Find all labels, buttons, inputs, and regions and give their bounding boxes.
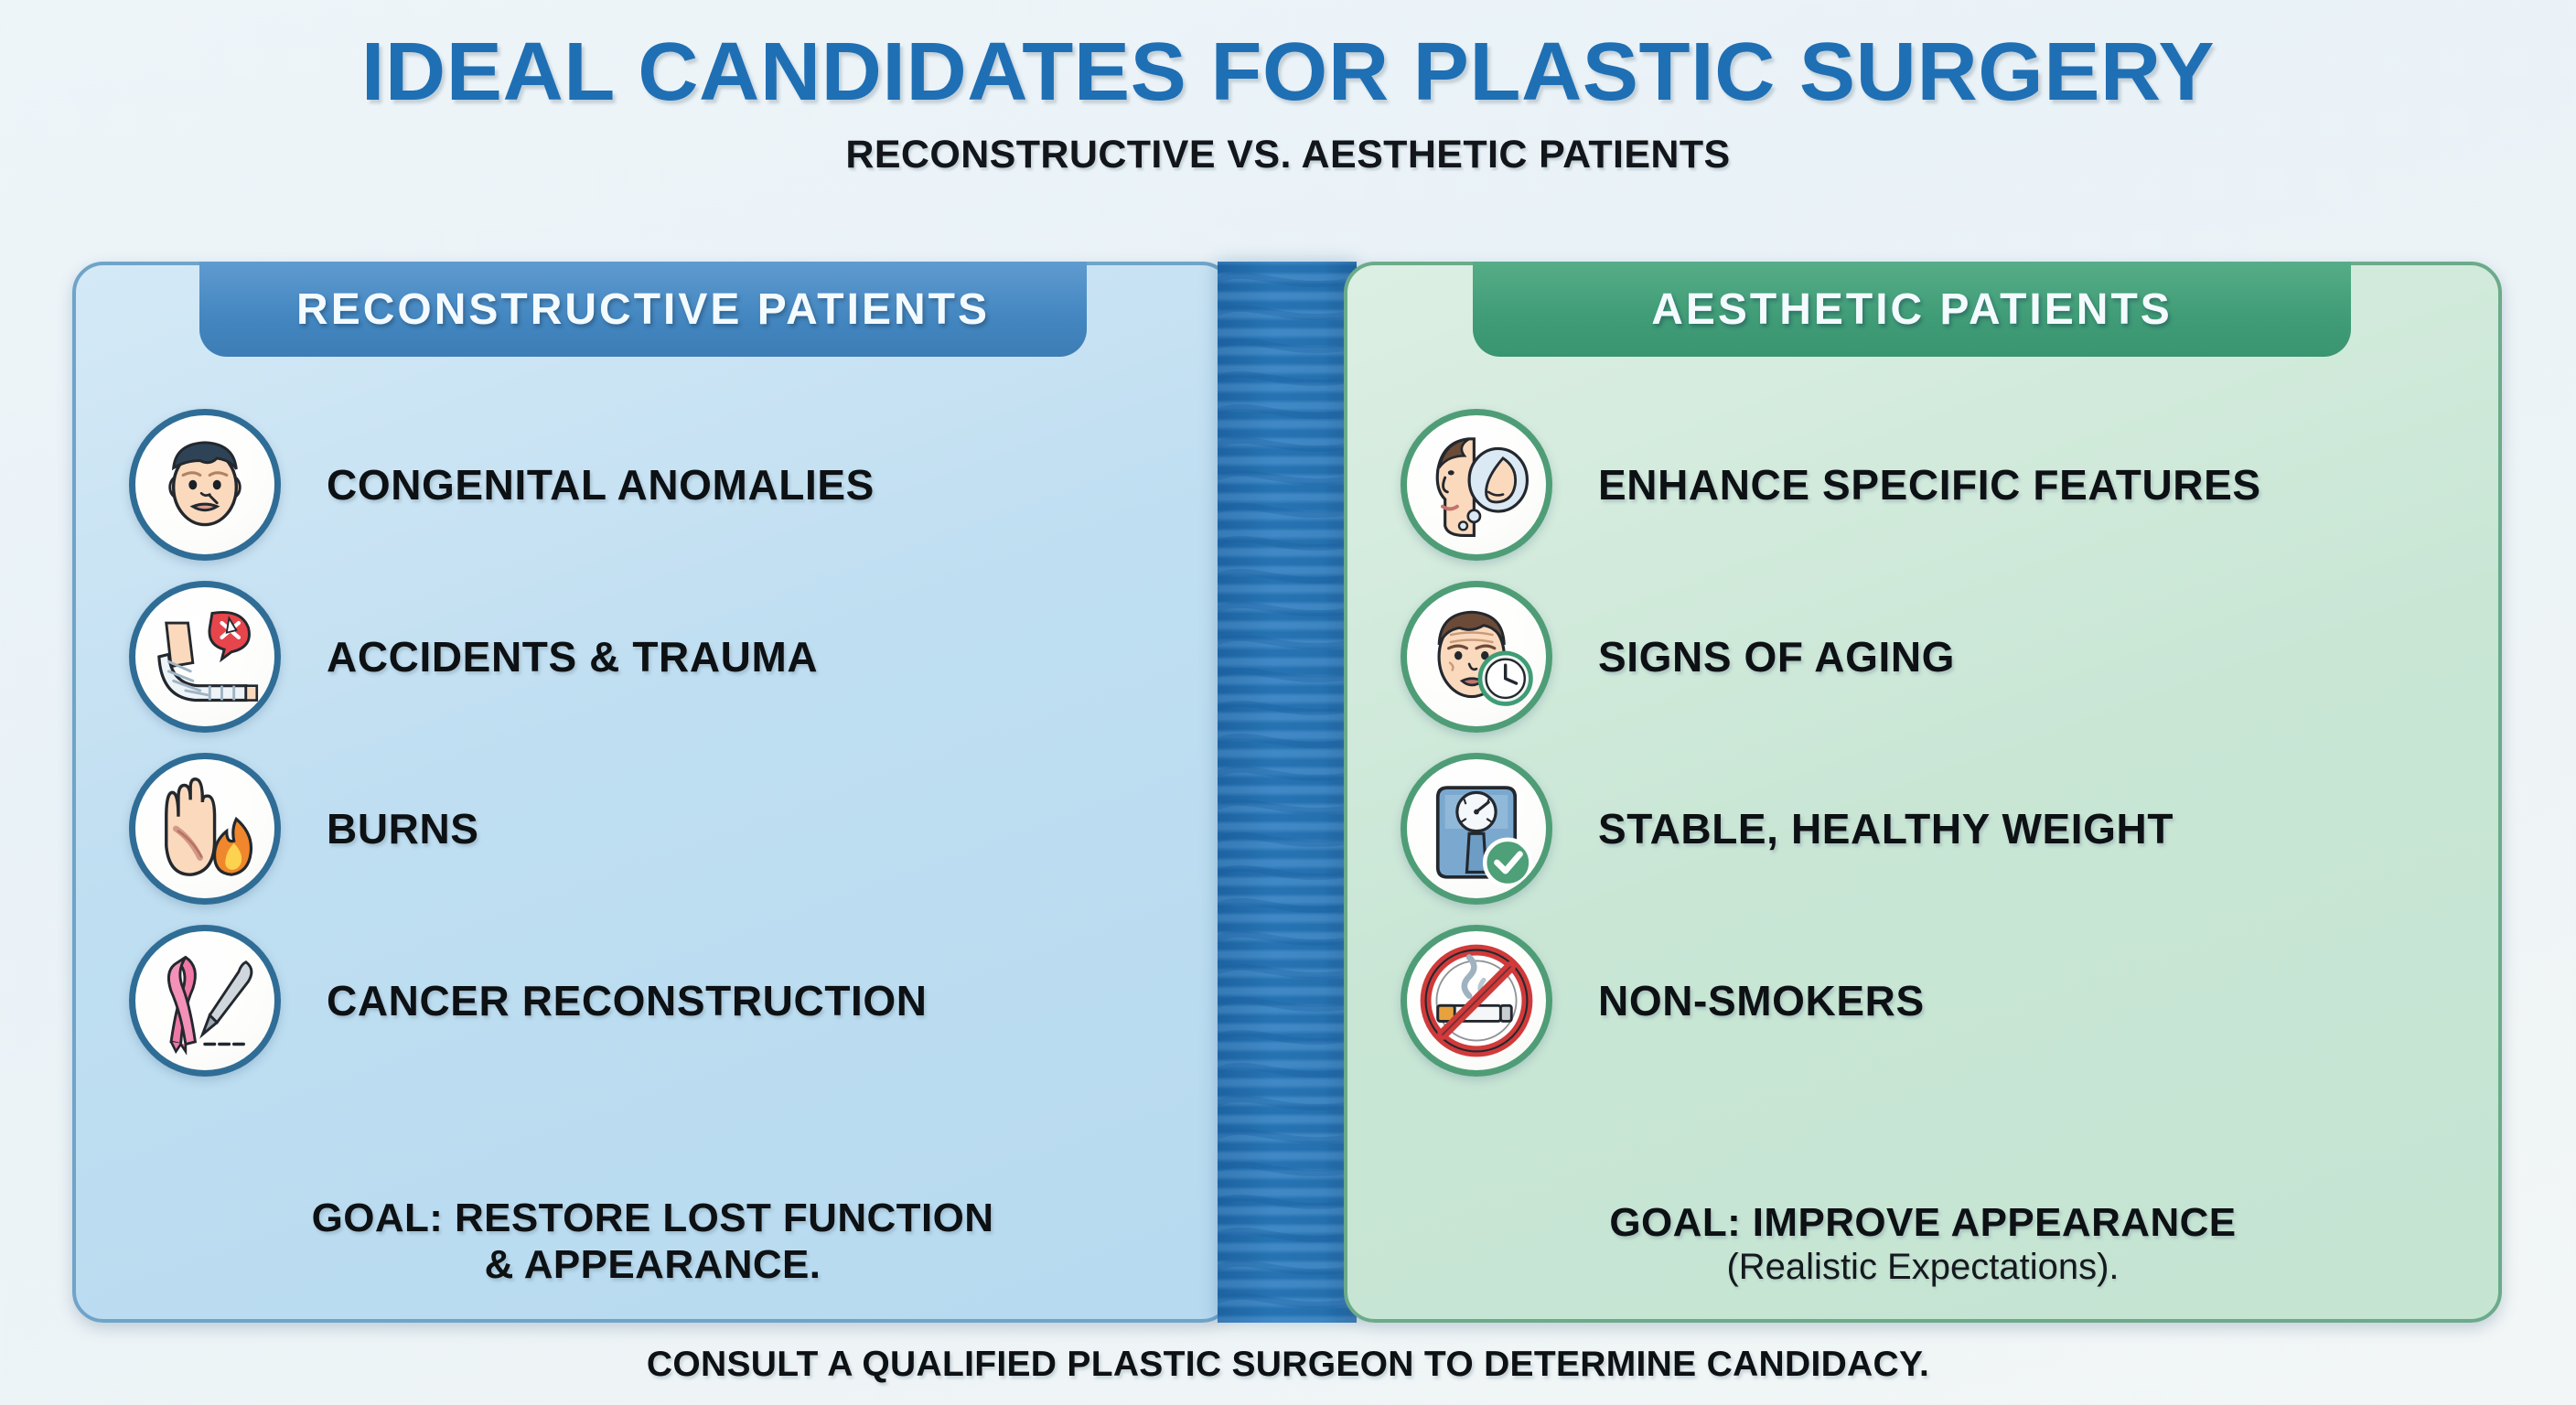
list-item-label: ACCIDENTS & TRAUMA [327,632,818,681]
page-title: IDEAL CANDIDATES FOR PLASTIC SURGERY [0,26,2576,120]
no-smoking-icon [1401,925,1552,1077]
goal-aesthetic: GOAL: IMPROVE APPEARANCE (Realistic Expe… [1347,1199,2498,1288]
header: IDEAL CANDIDATES FOR PLASTIC SURGERY REC… [0,0,2576,177]
weight-scale-check-icon [1401,753,1552,905]
child-cleft-lip-face-icon [129,409,281,561]
list-item-label: NON-SMOKERS [1598,976,1925,1025]
center-divider [1218,262,1357,1323]
burned-hand-flame-icon [129,753,281,905]
aesthetic-item-list: ENHANCE SPECIFIC FEATURES [1347,399,2498,1087]
aging-face-clock-icon [1401,581,1552,733]
panel-aesthetic: AESTHETIC PATIENTS ENHANCE SPECIFIC FEA [1344,262,2502,1323]
bandaged-arm-injury-icon [129,581,281,733]
banner-aesthetic-label: AESTHETIC PATIENTS [1651,284,2173,335]
list-item-label: STABLE, HEALTHY WEIGHT [1598,804,2173,853]
list-item[interactable]: NON-SMOKERS [1347,915,2498,1087]
list-item-label: ENHANCE SPECIFIC FEATURES [1598,460,2261,509]
panel-reconstructive: RECONSTRUCTIVE PATIENTS CONG [72,262,1233,1323]
page-subtitle: RECONSTRUCTIVE VS. AESTHETIC PATIENTS [0,133,2576,177]
banner-reconstructive-label: RECONSTRUCTIVE PATIENTS [296,284,990,335]
goal-main-text: GOAL: RESTORE LOST FUNCTION [76,1195,1229,1241]
goal-reconstructive: GOAL: RESTORE LOST FUNCTION & APPEARANCE… [76,1195,1229,1288]
footer-note: CONSULT A QUALIFIED PLASTIC SURGEON TO D… [0,1345,2576,1385]
list-item[interactable]: BURNS [76,743,1229,915]
wave-pattern-icon [1218,262,1357,1323]
banner-reconstructive: RECONSTRUCTIVE PATIENTS [199,262,1087,357]
list-item[interactable]: ACCIDENTS & TRAUMA [76,571,1229,743]
list-item[interactable]: SIGNS OF AGING [1347,571,2498,743]
reconstructive-item-list: CONGENITAL ANOMALIES ACCIDENTS & TRAUMA [76,399,1229,1087]
list-item[interactable]: CONGENITAL ANOMALIES [76,399,1229,571]
pink-ribbon-scalpel-icon [129,925,281,1077]
face-profile-thought-bubble-nose-icon [1401,409,1552,561]
list-item[interactable]: CANCER RECONSTRUCTION [76,915,1229,1087]
banner-aesthetic: AESTHETIC PATIENTS [1473,262,2351,357]
list-item-label: CANCER RECONSTRUCTION [327,976,928,1025]
list-item-label: CONGENITAL ANOMALIES [327,460,875,509]
goal-sub-text: & APPEARANCE. [76,1241,1229,1288]
list-item-label: SIGNS OF AGING [1598,632,1955,681]
goal-main-text: GOAL: IMPROVE APPEARANCE [1347,1199,2498,1246]
list-item[interactable]: ENHANCE SPECIFIC FEATURES [1347,399,2498,571]
goal-sub-text: (Realistic Expectations). [1347,1246,2498,1288]
list-item[interactable]: STABLE, HEALTHY WEIGHT [1347,743,2498,915]
list-item-label: BURNS [327,804,479,853]
